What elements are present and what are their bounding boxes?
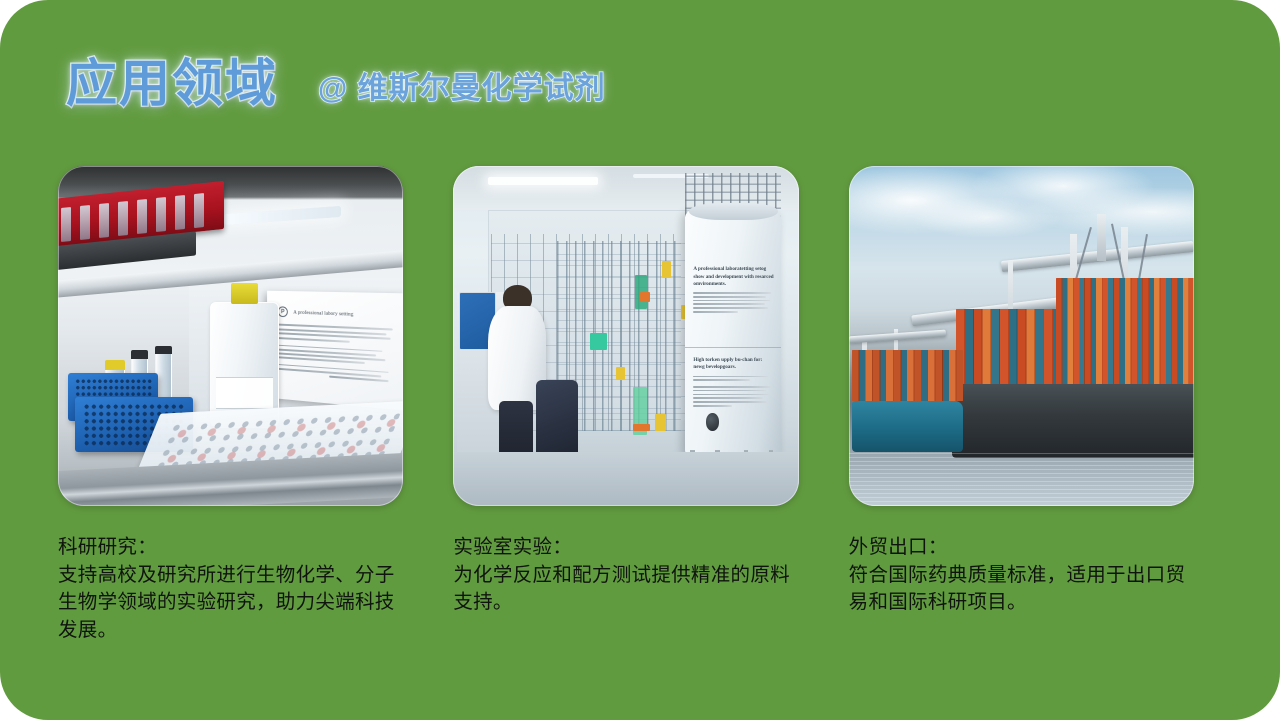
crane-tower <box>1097 214 1105 262</box>
caption-laboratory: 实验室实验： 为化学反应和配方测试提供精准的原料支持。 <box>453 534 798 645</box>
tank-valve <box>706 413 719 430</box>
tank-heading-2: High torken upply bu-chan for: newg beve… <box>693 357 774 371</box>
caption-body: 支持高校及研究所进行生物化学、分子生物学领域的实验研究，助力尖端科技发展。 <box>58 562 403 645</box>
export-photo <box>849 166 1194 506</box>
tank-lid <box>689 203 778 220</box>
office-chair <box>536 380 577 455</box>
research-photo: P A professional labory setting <box>58 166 403 506</box>
caption-body: 符合国际药典质量标准，适用于出口贸易和国际科研项目。 <box>849 562 1194 617</box>
brand-subtitle: @ 维斯尔曼化学试剂 <box>318 74 606 104</box>
caption-title: 实验室实验： <box>453 534 798 562</box>
plant-floor <box>453 452 798 506</box>
caption-title: 外贸出口： <box>849 534 1194 562</box>
ceiling-light <box>224 206 341 225</box>
caption-body: 为化学反应和配方测试提供精准的原料支持。 <box>453 562 798 617</box>
caption-research: 科研研究： 支持高校及研究所进行生物化学、分子生物学领域的实验研究，助力尖端科技… <box>58 534 403 645</box>
harbour-water <box>849 452 1194 506</box>
photo-card-export[interactable] <box>849 166 1194 506</box>
green-valve-a <box>590 333 607 350</box>
yellow-fitting-a <box>662 261 670 278</box>
slide-root: 应用领域 @ 维斯尔曼化学试剂 P A profession <box>0 0 1280 720</box>
photo-card-row: P A professional labory setting <box>58 166 1194 506</box>
orange-hose <box>633 424 650 431</box>
page-title: 应用领域 <box>66 58 278 109</box>
slide-header: 应用领域 @ 维斯尔曼化学试剂 <box>66 58 606 109</box>
caption-title: 科研研究： <box>58 534 403 562</box>
yellow-fitting-d <box>655 414 665 431</box>
ceiling-light-tube <box>488 177 599 185</box>
tank-heading-1: A professional laboratetting setog show … <box>693 266 774 288</box>
orange-fitting <box>640 292 650 302</box>
caption-export: 外贸出口： 符合国际药典质量标准，适用于出口贸易和国际科研项目。 <box>849 534 1194 645</box>
reactor-tank: A professional laboratetting setog show … <box>685 210 782 455</box>
laboratory-photo: A professional laboratetting setog show … <box>453 166 798 506</box>
container-ship-secondary <box>852 401 963 452</box>
caption-row: 科研研究： 支持高校及研究所进行生物化学、分子生物学领域的实验研究，助力尖端科技… <box>58 534 1194 645</box>
yellow-fitting-c <box>616 367 625 381</box>
photo-card-research[interactable]: P A professional labory setting <box>58 166 403 506</box>
container-ship-main <box>952 380 1194 458</box>
photo-card-laboratory[interactable]: A professional laboratetting setog show … <box>453 166 798 506</box>
container-stack-tall <box>1056 278 1194 383</box>
container-stack-left <box>852 350 963 401</box>
